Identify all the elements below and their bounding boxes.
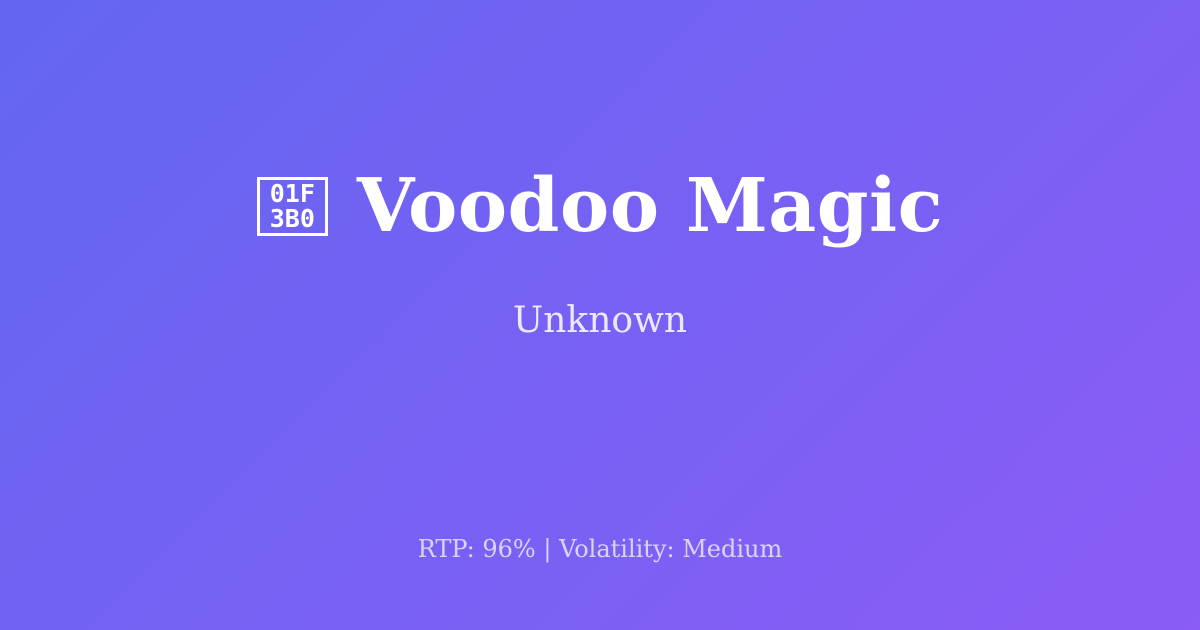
title-row: 01F 3B0 Voodoo Magic bbox=[257, 168, 943, 246]
page-subtitle: Unknown bbox=[513, 299, 687, 342]
slot-machine-emoji-tofu-icon: 01F 3B0 bbox=[257, 177, 328, 236]
game-stats-line: RTP: 96% | Volatility: Medium bbox=[418, 535, 783, 564]
footer: RTP: 96% | Volatility: Medium bbox=[0, 535, 1200, 564]
tofu-codepoint-line-2: 3B0 bbox=[270, 206, 315, 231]
hero-block: 01F 3B0 Voodoo Magic Unknown bbox=[0, 0, 1200, 510]
og-card: 01F 3B0 Voodoo Magic Unknown RTP: 96% | … bbox=[0, 0, 1200, 630]
tofu-codepoint-line-1: 01F bbox=[270, 181, 315, 206]
page-title: Voodoo Magic bbox=[357, 168, 943, 246]
